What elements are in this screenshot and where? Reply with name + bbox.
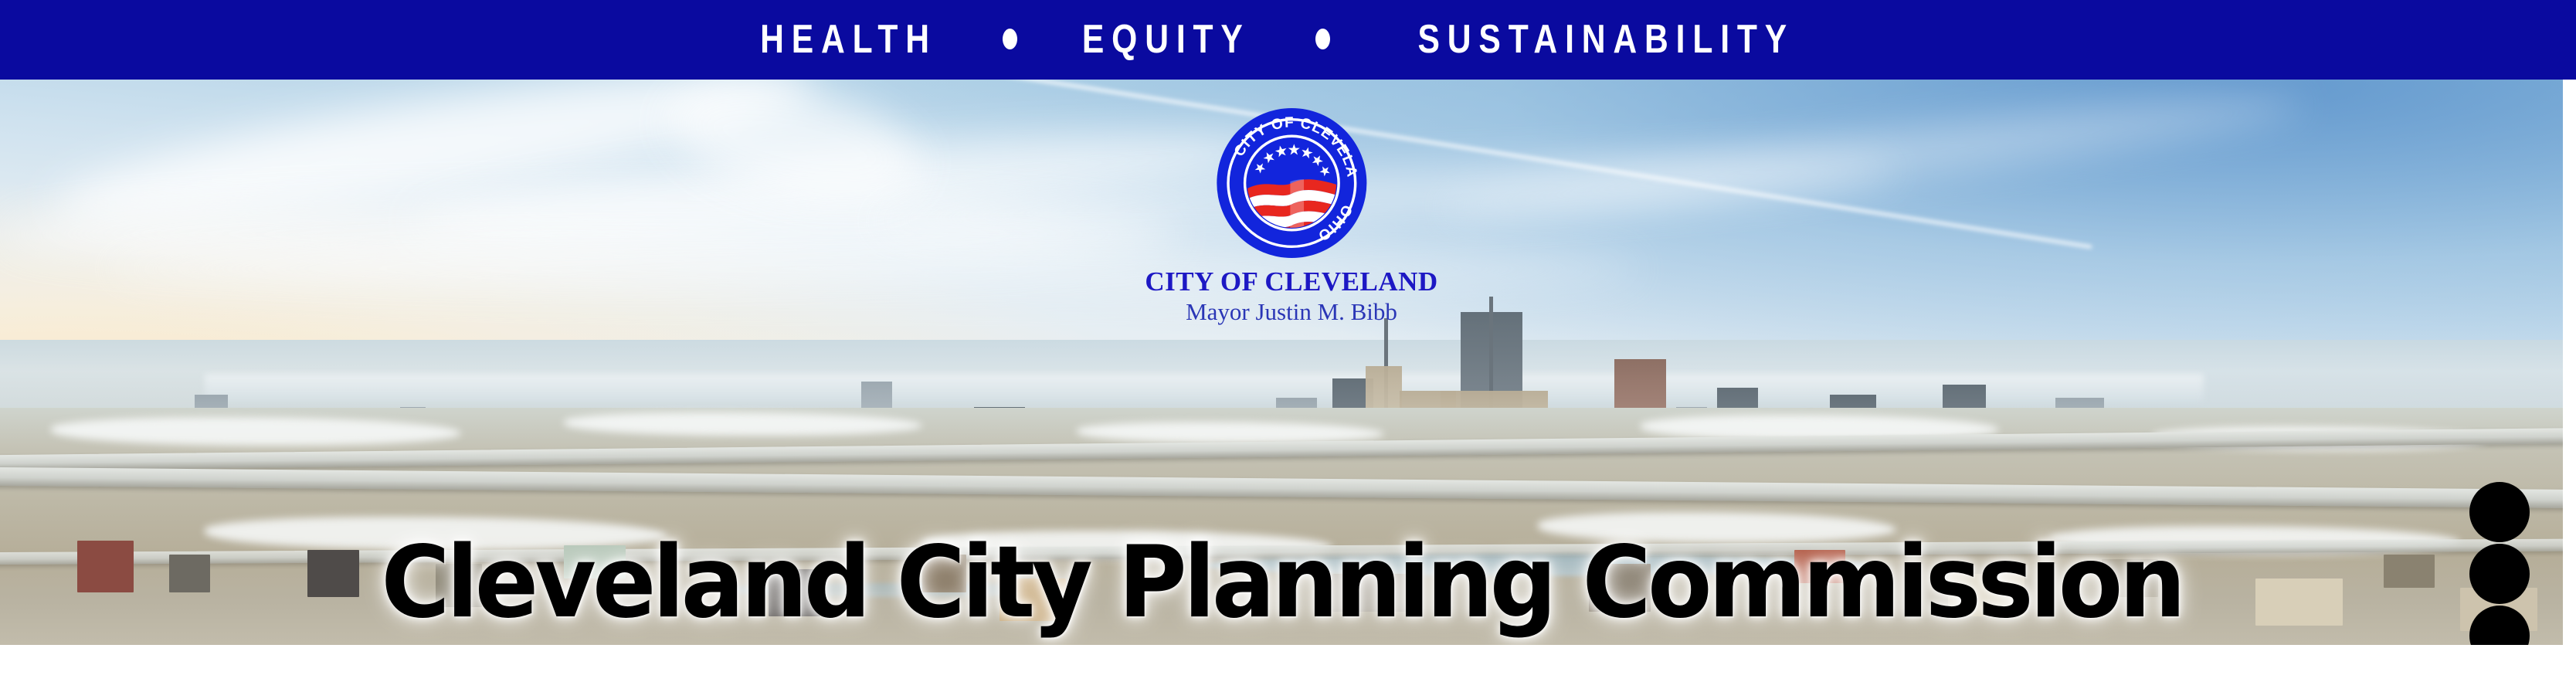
brand-mayor-line: Mayor Justin M. Bibb	[1145, 300, 1437, 325]
brand-lockup-text: CITY OF CLEVELAND Mayor Justin M. Bibb	[1145, 268, 1437, 324]
foreground-neighborhoods	[0, 408, 2563, 645]
facebook-link[interactable]	[2469, 606, 2530, 645]
tagline-separator-dot-2	[1315, 29, 1330, 49]
social-links	[2469, 482, 2530, 645]
youtube-link[interactable]	[2469, 482, 2530, 542]
city-of-cleveland-seal: CITY OF CLEVELAND OHIO	[1216, 107, 1367, 259]
city-seal-lockup: CITY OF CLEVELAND OHIO	[1145, 107, 1437, 324]
tagline-separator-dot-1	[1003, 29, 1017, 49]
cloud-decoration	[1436, 83, 2306, 231]
tagline-word-sustainability: SUSTAINABILITY	[1414, 19, 1797, 59]
instagram-icon	[2483, 557, 2517, 591]
facebook-icon	[2483, 619, 2517, 645]
youtube-icon	[2483, 495, 2517, 529]
tagline-banner: HEALTH EQUITY SUSTAINABILITY	[0, 0, 2576, 80]
hero-photo: CITY OF CLEVELAND OHIO	[0, 80, 2563, 645]
page-root: HEALTH EQUITY SUSTAINABILITY	[0, 0, 2576, 682]
instagram-link[interactable]	[2469, 544, 2530, 604]
tagline-word-equity: EQUITY	[1078, 19, 1254, 59]
brand-city-line: CITY OF CLEVELAND	[1145, 268, 1437, 297]
tagline-word-health: HEALTH	[756, 19, 941, 59]
tagline-banner-content: HEALTH EQUITY SUSTAINABILITY	[736, 19, 1840, 59]
